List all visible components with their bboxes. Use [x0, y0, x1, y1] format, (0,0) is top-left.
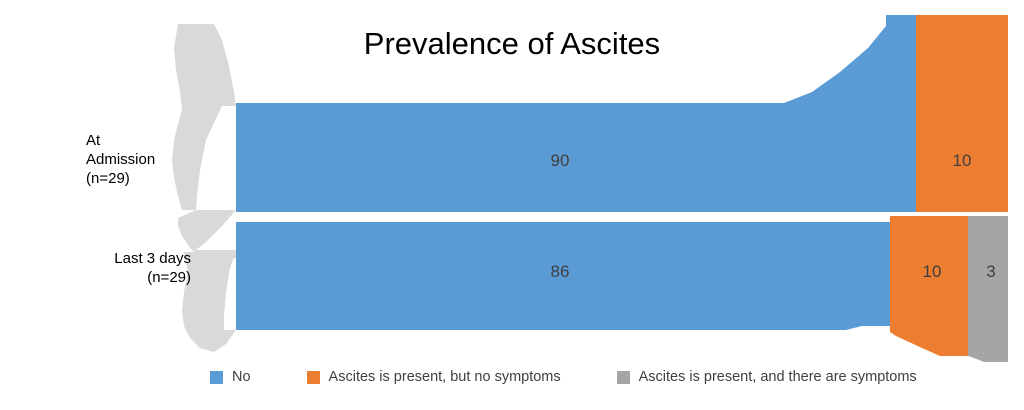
data-label-row1-no: 86 [551, 262, 570, 282]
legend-item-present-no-symptoms[interactable]: Ascites is present, but no symptoms [307, 369, 561, 385]
category-label-at-admission: At Admission (n=29) [86, 131, 155, 188]
chart-title: Prevalence of Ascites [0, 26, 1024, 62]
legend-item-present-with-symptoms[interactable]: Ascites is present, and there are sympto… [617, 369, 917, 385]
data-label-row0-no: 90 [551, 151, 570, 171]
legend-swatch-present-no-symptoms-icon [307, 371, 320, 384]
category-label-last-3-days: Last 3 days (n=29) [66, 249, 191, 287]
legend-swatch-present-with-symptoms-icon [617, 371, 630, 384]
legend-swatch-no-icon [210, 371, 223, 384]
bar-segment-row1-present-no-symptoms [890, 216, 968, 356]
legend-label-present-with-symptoms: Ascites is present, and there are sympto… [639, 369, 917, 385]
legend-label-present-no-symptoms: Ascites is present, but no symptoms [329, 369, 561, 385]
legend-label-no: No [232, 369, 251, 385]
data-label-row0-present-no-symptoms: 10 [953, 151, 972, 171]
chart-legend: No Ascites is present, but no symptoms A… [0, 369, 1024, 385]
bar-segment-row1-present-with-symptoms [968, 216, 1008, 362]
data-label-row1-present-with-symptoms: 3 [986, 262, 995, 282]
chart-container: Prevalence of Ascites At Admission (n=29… [0, 0, 1024, 410]
legend-item-no[interactable]: No [210, 369, 251, 385]
data-label-row1-present-no-symptoms: 10 [923, 262, 942, 282]
